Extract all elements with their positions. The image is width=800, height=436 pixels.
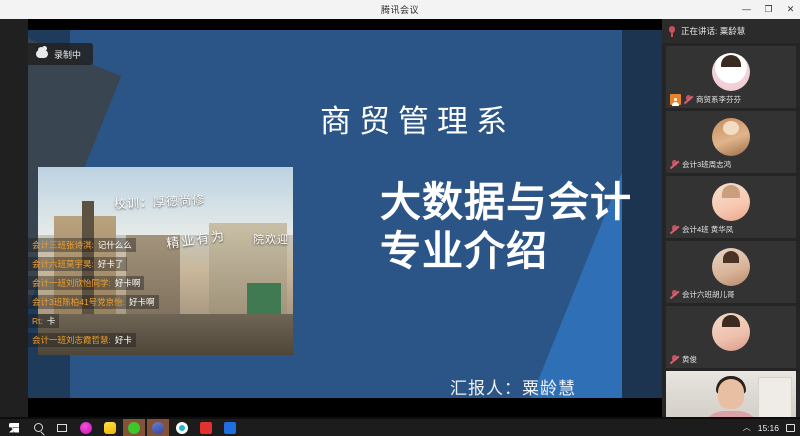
participant-tile[interactable]: 会计4班 黄华凤 xyxy=(666,176,796,238)
person-head xyxy=(718,379,744,409)
taskbar-app-wps-icon[interactable] xyxy=(195,419,217,436)
windows-start-icon[interactable] xyxy=(3,419,25,436)
slide-department-title: 商贸管理系 xyxy=(320,96,515,141)
shared-screen[interactable]: 校训：厚德尚修 精业有为 院欢迎 商贸管理系 大数据与会计专业介绍 汇报人：粟龄… xyxy=(28,19,662,417)
meeting-body: 校训：厚德尚修 精业有为 院欢迎 商贸管理系 大数据与会计专业介绍 汇报人：粟龄… xyxy=(0,19,800,417)
participant-tile[interactable]: 会计六班胡儿哥 xyxy=(666,241,796,303)
taskbar-left-group xyxy=(0,419,241,436)
chat-nickname: Rt: xyxy=(32,316,43,326)
taskbar-app-meeting-icon[interactable] xyxy=(147,419,169,436)
taskbar-app-wechat-icon[interactable] xyxy=(123,419,145,436)
mic-muted-icon xyxy=(684,95,693,104)
taskbar-clock[interactable]: 15:16 xyxy=(758,423,779,433)
participant-name: 会计3班周志鸿 xyxy=(682,159,731,170)
mic-muted-icon xyxy=(670,160,679,169)
task-view-icon[interactable] xyxy=(51,419,73,436)
taskbar-app-browser-icon[interactable] xyxy=(171,419,193,436)
participant-tile[interactable]: 会计3班周志鸿 xyxy=(666,111,796,173)
active-speaker-bar: 正在讲话: 粟龄慧 xyxy=(662,19,800,43)
chat-text: 卡 xyxy=(47,315,56,327)
participant-name-row: 黄俊 xyxy=(670,354,697,365)
participants-sidebar[interactable]: 正在讲话: 粟龄慧 商贸系李芬芬 会计3班周志鸿 xyxy=(662,19,800,417)
taskbar-app-qq-icon[interactable] xyxy=(75,419,97,436)
participant-tile[interactable]: 商贸系李芬芬 xyxy=(666,46,796,108)
participant-tiles: 商贸系李芬芬 会计3班周志鸿 会计4班 黄华凤 xyxy=(662,43,800,433)
chat-message: 会计3班陈柏41号党京怡: 好卡啊 xyxy=(28,295,159,309)
recording-label: 录制中 xyxy=(54,48,81,61)
mic-muted-icon xyxy=(670,290,679,299)
window-title-bar: 腾讯会议 — ❐ ✕ xyxy=(0,0,800,19)
chat-message: Rt: 卡 xyxy=(28,314,59,328)
chat-nickname: 会计三班张诗淇: xyxy=(32,239,94,251)
avatar xyxy=(712,313,750,351)
background-wall xyxy=(758,377,792,421)
window-controls: — ❐ ✕ xyxy=(741,0,796,19)
maximize-button[interactable]: ❐ xyxy=(763,5,774,14)
chat-nickname: 会计一班刘志霞哲慧: xyxy=(32,334,111,346)
slide-headline: 大数据与会计专业介绍 xyxy=(380,178,642,276)
participant-name: 商贸系李芬芬 xyxy=(696,94,741,105)
chat-text: 好卡 xyxy=(115,334,132,346)
participant-name-row: 商贸系李芬芬 xyxy=(670,94,741,105)
taskbar-app-notes-icon[interactable] xyxy=(99,419,121,436)
slide-presenter: 汇报人：粟龄慧 xyxy=(450,374,576,398)
minimize-button[interactable]: — xyxy=(741,5,752,14)
chat-text: 记什么么 xyxy=(98,239,132,251)
left-rail xyxy=(0,19,28,417)
participant-tile[interactable]: 黄俊 xyxy=(666,306,796,368)
chat-text: 好卡啊 xyxy=(115,277,141,289)
avatar xyxy=(712,248,750,286)
chat-text: 好卡啊 xyxy=(129,296,155,308)
photo-signboard-text: 院欢迎 xyxy=(253,231,289,247)
tray-chevron-icon[interactable]: ︿ xyxy=(743,422,751,433)
participant-name: 黄俊 xyxy=(682,354,697,365)
chat-overlay: 会计三班张诗淇: 记什么么 会计六班莫宇昊: 好卡了 会计一班刘欣怡同学: 好卡… xyxy=(28,238,228,352)
notification-icon[interactable] xyxy=(786,424,795,432)
avatar xyxy=(712,118,750,156)
search-magnifier-icon[interactable] xyxy=(27,419,49,436)
chat-message: 会计一班刘志霞哲慧: 好卡 xyxy=(28,333,136,347)
avatar xyxy=(712,53,750,91)
chat-nickname: 会计一班刘欣怡同学: xyxy=(32,277,111,289)
taskbar-app-explorer-icon[interactable] xyxy=(219,419,241,436)
chat-message: 会计一班刘欣怡同学: 好卡啊 xyxy=(28,276,144,290)
taskbar-right-group: ︿ 15:16 xyxy=(743,422,800,433)
mic-muted-icon xyxy=(670,355,679,364)
avatar xyxy=(712,183,750,221)
chat-nickname: 会计3班陈柏41号党京怡: xyxy=(32,296,125,308)
recording-badge: 录制中 xyxy=(28,43,93,65)
chat-message: 会计三班张诗淇: 记什么么 xyxy=(28,238,136,252)
participant-name-row: 会计4班 黄华凤 xyxy=(670,224,733,235)
mic-active-icon xyxy=(668,26,676,37)
participant-name: 会计六班胡儿哥 xyxy=(682,289,735,300)
participant-name-row: 会计六班胡儿哥 xyxy=(670,289,735,300)
cloud-record-icon xyxy=(36,50,48,58)
active-speaker-label: 正在讲话: 粟龄慧 xyxy=(681,25,745,37)
mic-muted-icon xyxy=(670,225,679,234)
host-badge-icon xyxy=(670,94,681,105)
windows-taskbar: ︿ 15:16 xyxy=(0,419,800,436)
participant-name-row: 会计3班周志鸿 xyxy=(670,159,731,170)
close-button[interactable]: ✕ xyxy=(785,5,796,14)
participant-name: 会计4班 黄华凤 xyxy=(682,224,733,235)
chat-nickname: 会计六班莫宇昊: xyxy=(32,258,94,270)
chat-text: 好卡了 xyxy=(98,258,124,270)
chat-message: 会计六班莫宇昊: 好卡了 xyxy=(28,257,127,271)
meeting-window: 腾讯会议 — ❐ ✕ xyxy=(0,0,800,436)
window-title: 腾讯会议 xyxy=(381,3,419,16)
